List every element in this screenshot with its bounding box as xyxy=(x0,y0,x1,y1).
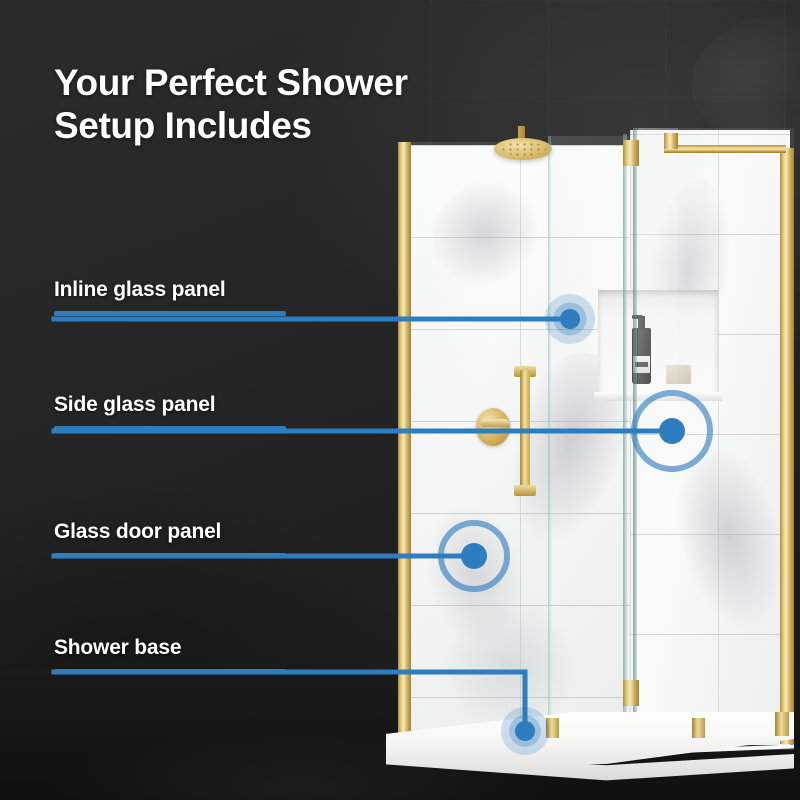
callout-pointer-inline-glass-panel xyxy=(54,294,595,344)
marker-dot xyxy=(560,309,580,329)
marker-dot xyxy=(515,721,535,741)
marker-dot xyxy=(461,543,487,569)
callout-pointer-side-glass-panel xyxy=(54,393,710,469)
callout-pointer-glass-door-panel xyxy=(54,523,507,589)
leader-line xyxy=(54,672,525,731)
callout-leader-lines xyxy=(0,0,800,800)
infographic-canvas: Your Perfect Shower Setup Includes Inlin… xyxy=(0,0,800,800)
marker-dot xyxy=(659,418,685,444)
callout-pointer-shower-base xyxy=(54,672,549,755)
